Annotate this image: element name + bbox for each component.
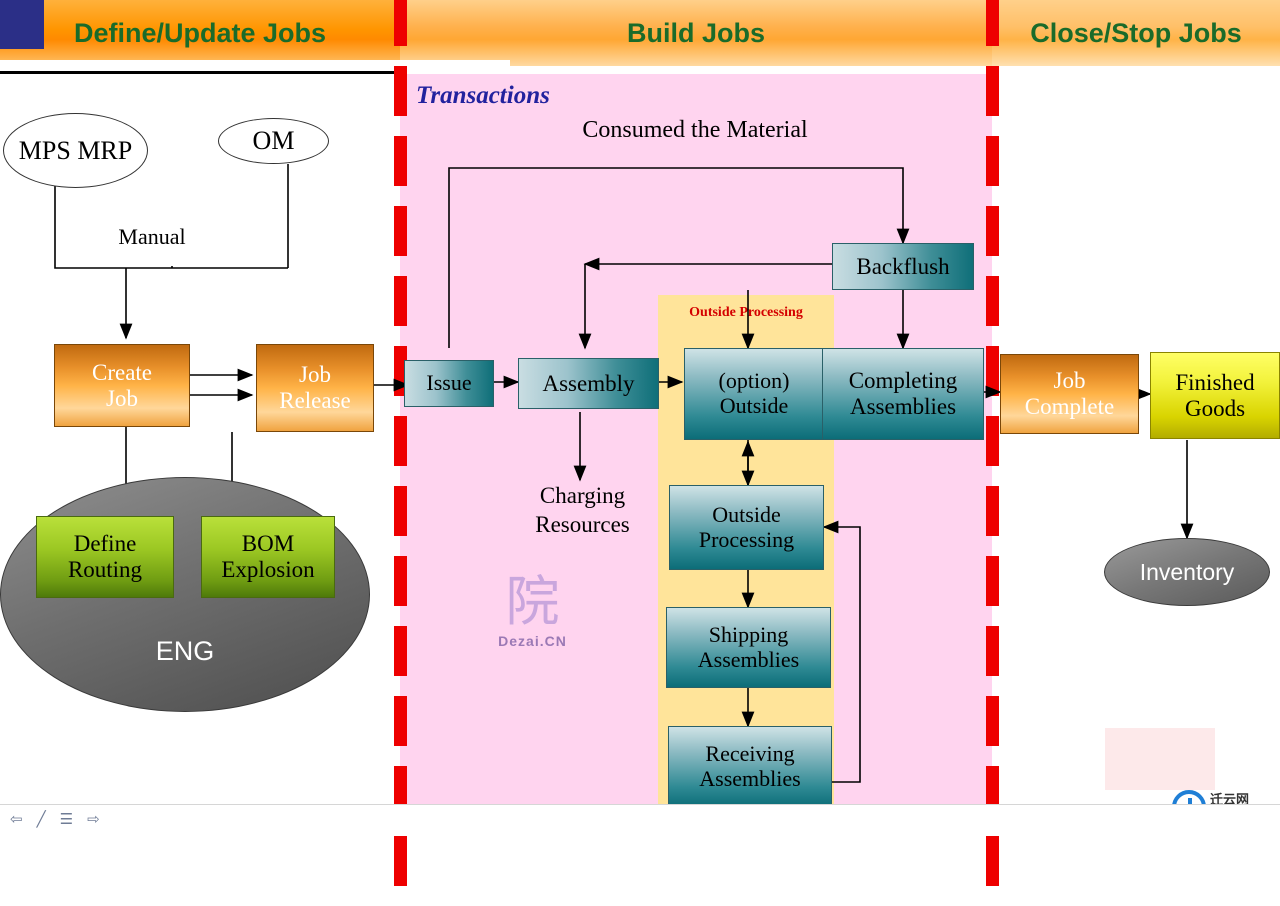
header-accent-block [0, 0, 44, 49]
node-mps-mrp[interactable]: MPS MRP [3, 113, 148, 188]
label-charging: Charging [540, 483, 625, 508]
node-shipping-line2: Assemblies [698, 648, 799, 673]
label-consumed-the-material: Consumed the Material [540, 117, 850, 144]
label-charging-resources: Charging Resources [505, 482, 660, 540]
node-define-routing-line1: Define [68, 531, 142, 557]
node-define-routing-line2: Routing [68, 557, 142, 583]
node-receiving-assemblies[interactable]: Receiving Assemblies [668, 726, 832, 808]
node-job-release-line2: Release [279, 388, 351, 414]
node-issue-label: Issue [426, 371, 471, 396]
node-completing-line2: Assemblies [849, 394, 958, 420]
node-create-job[interactable]: Create Job [54, 344, 190, 427]
node-bom-explosion-line2: Explosion [221, 557, 314, 583]
node-eng-label: ENG [1, 636, 369, 667]
node-backflush-label: Backflush [856, 254, 949, 280]
node-outside-processing[interactable]: Outside Processing [669, 485, 824, 570]
dezai-text: Dezai.CN [480, 633, 585, 649]
node-finished-goods-line2: Goods [1175, 396, 1254, 422]
forward-arrow-icon[interactable]: ⇨ [87, 810, 100, 828]
node-issue[interactable]: Issue [404, 360, 494, 407]
header-label-close-stop-jobs: Close/Stop Jobs [1030, 18, 1242, 49]
node-define-routing[interactable]: Define Routing [36, 516, 174, 598]
back-arrow-icon[interactable]: ⇦ [10, 810, 23, 828]
header-segment-define-update-jobs[interactable]: Define/Update Jobs [0, 0, 400, 66]
node-inventory-label: Inventory [1140, 559, 1235, 585]
node-option-outside-line2: Outside [719, 394, 790, 419]
notes-icon[interactable]: ☰ [60, 810, 73, 828]
dezai-glyph: 院 [480, 575, 585, 629]
node-outside-processing-line1: Outside [699, 503, 794, 528]
outside-processing-title: Outside Processing [660, 305, 832, 321]
node-completing-assemblies[interactable]: Completing Assemblies [822, 348, 984, 440]
node-outside-processing-line2: Processing [699, 528, 794, 553]
node-mrp-label: MRP [77, 136, 132, 165]
node-mps-label: MPS [19, 136, 71, 165]
node-job-release-line1: Job [279, 362, 351, 388]
label-manual: Manual [102, 224, 202, 250]
node-receiving-line1: Receiving [699, 742, 800, 767]
node-finished-goods-line1: Finished [1175, 370, 1254, 396]
node-om[interactable]: OM [218, 118, 329, 164]
node-job-complete-line1: Job [1025, 368, 1114, 394]
header-segment-close-stop-jobs[interactable]: Close/Stop Jobs [992, 0, 1280, 66]
node-job-release[interactable]: Job Release [256, 344, 374, 432]
node-job-complete[interactable]: Job Complete [1000, 354, 1139, 434]
node-completing-line1: Completing [849, 368, 958, 394]
node-bom-explosion-line1: BOM [221, 531, 314, 557]
node-finished-goods[interactable]: Finished Goods [1150, 352, 1280, 439]
node-assembly[interactable]: Assembly [518, 358, 659, 409]
watermark-dezai: 院 Dezai.CN [480, 575, 585, 649]
header-underline [0, 71, 400, 74]
label-resources: Resources [535, 512, 630, 537]
left-rail [0, 74, 5, 814]
divider-dashed-left [394, 0, 407, 906]
node-om-label: OM [253, 126, 295, 156]
watermark-block [1105, 728, 1215, 790]
node-receiving-line2: Assemblies [699, 767, 800, 792]
node-backflush[interactable]: Backflush [832, 243, 974, 290]
node-create-job-line1: Create [92, 360, 152, 386]
node-job-complete-line2: Complete [1025, 394, 1114, 420]
node-shipping-assemblies[interactable]: Shipping Assemblies [666, 607, 831, 688]
header-segment-build-jobs[interactable]: Build Jobs [400, 0, 992, 66]
node-inventory[interactable]: Inventory [1104, 538, 1270, 606]
transactions-title: Transactions [416, 82, 550, 110]
header-band: Define/Update Jobs Build Jobs Close/Stop… [0, 0, 1280, 66]
slide-canvas: Define/Update Jobs Build Jobs Close/Stop… [0, 0, 1280, 832]
bottom-toolbar: ⇦ ╱ ☰ ⇨ [0, 804, 1280, 832]
node-shipping-line1: Shipping [698, 623, 799, 648]
node-bom-explosion[interactable]: BOM Explosion [201, 516, 335, 598]
header-label-define-update-jobs: Define/Update Jobs [74, 18, 326, 49]
divider-dashed-right [986, 0, 999, 906]
node-option-outside-line1: (option) [719, 369, 790, 394]
header-label-build-jobs: Build Jobs [627, 18, 765, 49]
node-assembly-label: Assembly [543, 371, 635, 397]
pen-icon[interactable]: ╱ [37, 810, 46, 828]
node-create-job-line2: Job [92, 386, 152, 412]
node-option-outside[interactable]: (option) Outside [684, 348, 824, 440]
